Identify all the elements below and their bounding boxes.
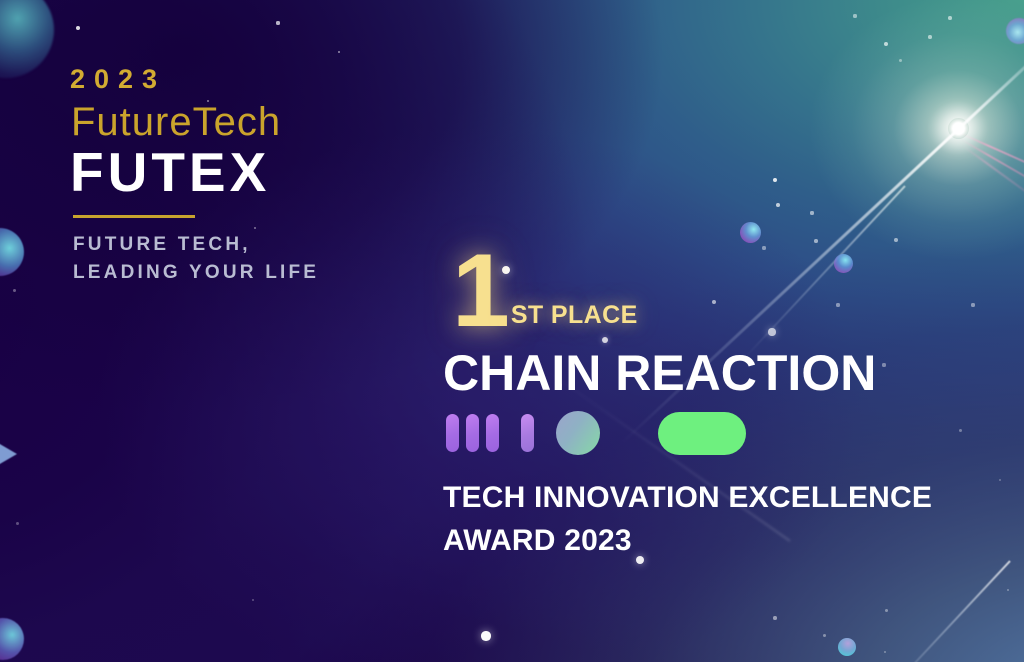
logo-year: 2023 bbox=[70, 66, 410, 93]
planet-bubble-icon bbox=[838, 638, 856, 656]
star-dot-icon bbox=[481, 631, 490, 640]
brandmark-pill-icon bbox=[658, 412, 746, 455]
award-subtitle: TECH INNOVATION EXCELLENCE AWARD 2023 bbox=[443, 477, 1003, 562]
award-subtitle-line-1: TECH INNOVATION EXCELLENCE bbox=[443, 477, 1003, 520]
star-dot-icon bbox=[276, 21, 279, 24]
brandmark-circle-icon bbox=[556, 411, 600, 455]
logo-tagline-line-1: FUTURE TECH, bbox=[73, 231, 410, 259]
brandmark-bar-4 bbox=[521, 414, 534, 452]
star-dot-icon bbox=[885, 609, 888, 612]
logo-divider bbox=[73, 215, 195, 218]
logo-tagline-line-2: LEADING YOUR LIFE bbox=[73, 259, 410, 287]
project-title: CHAIN REACTION bbox=[443, 348, 1003, 398]
logo-wordmark-bold: FUTEX bbox=[70, 144, 410, 202]
logo-wordmark-light: FutureTech bbox=[71, 102, 410, 142]
award-block: 1 ST PLACE CHAIN REACTION TECH INNOVATIO… bbox=[443, 244, 1003, 562]
star-dot-icon bbox=[16, 522, 19, 525]
futex-logo: 2023 FutureTech FUTEX FUTURE TECH, LEADI… bbox=[70, 66, 410, 287]
chain-reaction-brandmark bbox=[446, 411, 1003, 455]
arrow-triangle-icon bbox=[0, 443, 17, 465]
star-dot-icon bbox=[823, 634, 826, 637]
award-poster: 2023 FutureTech FUTEX FUTURE TECH, LEADI… bbox=[0, 0, 1024, 662]
brandmark-bar-3 bbox=[486, 414, 499, 452]
star-dot-icon bbox=[773, 616, 777, 620]
place-number: 1 bbox=[452, 247, 508, 336]
award-subtitle-line-2: AWARD 2023 bbox=[443, 520, 1003, 563]
star-dot-icon bbox=[76, 26, 80, 30]
place-suffix: ST PLACE bbox=[511, 303, 638, 336]
star-flare-icon bbox=[948, 118, 969, 139]
brandmark-bar-1 bbox=[446, 414, 459, 452]
star-dot-icon bbox=[13, 289, 16, 292]
star-dot-icon bbox=[776, 203, 780, 207]
planet-bubble-icon bbox=[740, 222, 761, 243]
place-badge: 1 ST PLACE bbox=[452, 244, 1003, 336]
brandmark-bar-2 bbox=[466, 414, 479, 452]
